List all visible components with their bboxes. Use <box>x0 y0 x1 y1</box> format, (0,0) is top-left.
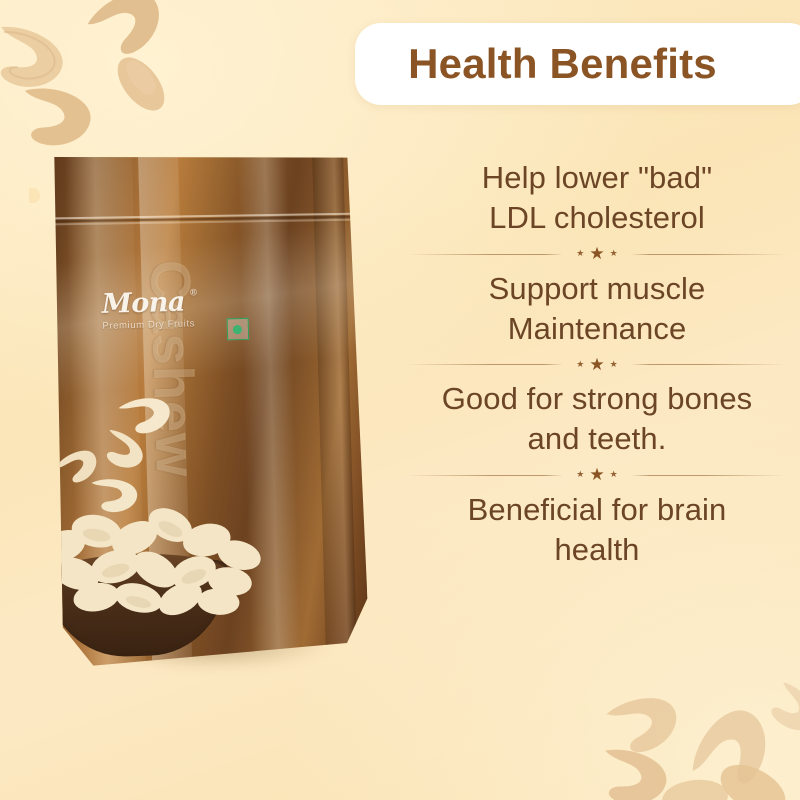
star-icon: ★ <box>610 360 618 369</box>
divider-stars: ★ ★ ★ <box>576 245 617 262</box>
benefit-line: Good for strong bones <box>408 379 786 419</box>
tear-notch <box>29 188 40 203</box>
product-infographic-canvas: Health Benefits Help lower "bad" LDL cho… <box>0 0 800 800</box>
star-icon: ★ <box>610 470 618 479</box>
benefit-line: LDL cholesterol <box>408 198 786 238</box>
divider-stars: ★ ★ ★ <box>576 466 617 483</box>
star-icon: ★ <box>610 249 618 258</box>
star-icon: ★ <box>589 356 604 373</box>
benefit-line: health <box>408 530 786 570</box>
page-title: Health Benefits <box>355 23 770 105</box>
cashew-heap <box>45 492 271 628</box>
brand-name: Mona ® <box>101 289 185 318</box>
star-divider: ★ ★ ★ <box>408 349 786 379</box>
brand-name-text: Mona <box>101 287 185 320</box>
header-banner: Health Benefits <box>355 23 800 105</box>
product-package-image: Cashew Mona ® Premium Dry Fruits <box>30 140 390 700</box>
benefit-item-3: Good for strong bones and teeth. <box>408 379 786 460</box>
star-icon: ★ <box>576 470 584 479</box>
benefit-item-1: Help lower "bad" LDL cholesterol <box>408 158 786 239</box>
divider-stars: ★ ★ ★ <box>576 356 617 373</box>
star-icon: ★ <box>589 245 604 262</box>
star-icon: ★ <box>576 360 584 369</box>
benefit-item-2: Support muscle Maintenance <box>408 269 786 350</box>
benefit-line: Maintenance <box>408 309 786 349</box>
cashew-pouch: Cashew Mona ® Premium Dry Fruits <box>45 141 369 669</box>
benefit-line: Beneficial for brain <box>408 490 786 530</box>
star-divider: ★ ★ ★ <box>408 239 786 269</box>
benefit-line: Help lower "bad" <box>408 158 786 198</box>
vegetarian-green-mark-icon <box>226 318 249 341</box>
benefit-item-4: Beneficial for brain health <box>408 490 786 571</box>
benefit-line: Support muscle <box>408 269 786 309</box>
star-icon: ★ <box>589 466 604 483</box>
benefits-list: Help lower "bad" LDL cholesterol ★ ★ ★ S… <box>408 158 786 570</box>
registered-trademark-icon: ® <box>189 289 198 298</box>
star-divider: ★ ★ ★ <box>408 460 786 490</box>
benefit-line: and teeth. <box>408 419 786 459</box>
zip-lock-seal <box>53 213 351 227</box>
package-cashew-bowl-artwork <box>45 387 295 669</box>
star-icon: ★ <box>576 249 584 258</box>
